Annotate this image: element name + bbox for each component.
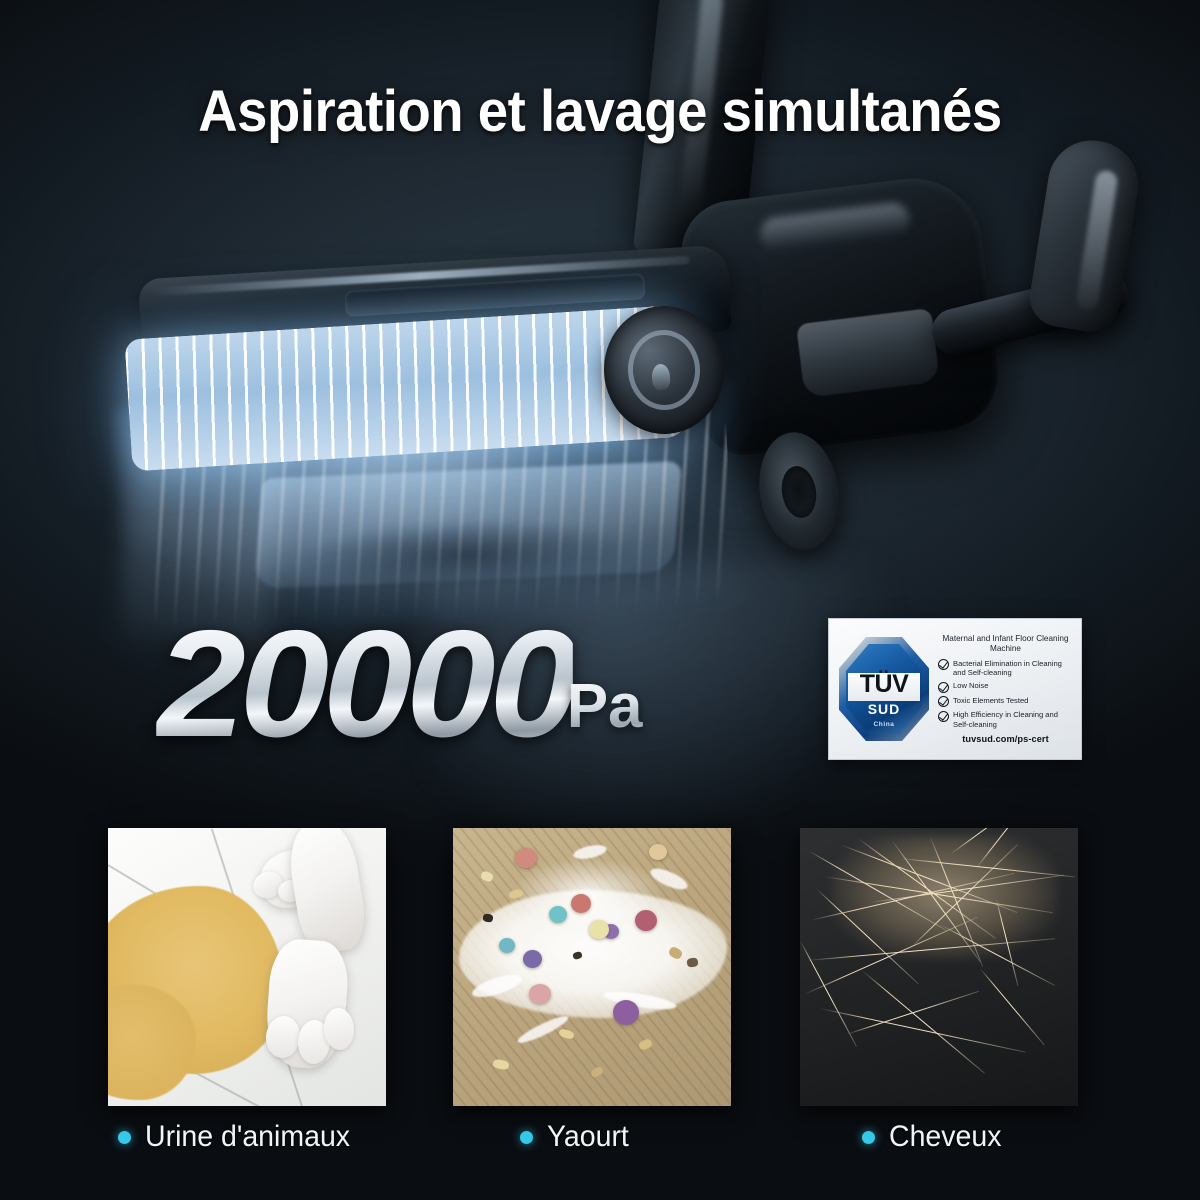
tuv-logo-region: China <box>848 721 920 728</box>
bullet-dot-icon <box>862 1131 875 1144</box>
product-marketing-image: Aspiration et lavage simultanés 20000 Pa… <box>0 0 1200 1200</box>
cereal-loop <box>529 984 551 1004</box>
mess-thumbnail-pet-urine <box>108 828 386 1106</box>
tuv-logo-wordmark: TÜV <box>848 671 920 697</box>
cereal-loop <box>649 844 667 860</box>
cereal-loop <box>499 938 515 953</box>
mess-caption-label: Urine d'animaux <box>145 1120 350 1154</box>
check-circle-icon <box>938 711 949 722</box>
mess-caption-hair: Cheveux <box>862 1120 1007 1154</box>
cereal-loop <box>571 894 591 913</box>
tuv-certification-details: Maternal and Infant Floor Cleaning Machi… <box>933 634 1075 744</box>
tuv-list-item-label: Low Noise <box>953 681 988 691</box>
suction-power-unit: Pa <box>567 671 643 742</box>
tuv-certification-url: tuvsud.com/ps-cert <box>938 734 1073 744</box>
tuv-list-item: High Efficiency in Cleaning and Self-cle… <box>938 710 1073 730</box>
cereal-loop <box>515 848 537 868</box>
tuv-list-item-label: Toxic Elements Tested <box>953 696 1028 706</box>
cereal-loop <box>589 920 609 939</box>
mess-caption-label: Yaourt <box>547 1120 629 1154</box>
bullet-dot-icon <box>118 1131 131 1144</box>
tuv-logo-sub: SUD <box>848 701 920 717</box>
tuv-list-item: Low Noise <box>938 681 1073 693</box>
food-crumb <box>482 913 493 922</box>
check-circle-icon <box>938 659 949 670</box>
tuv-sud-logo-icon: TÜV SUD China <box>835 633 933 745</box>
mess-caption-yogurt: Yaourt <box>520 1120 633 1154</box>
mess-thumbnail-yogurt <box>453 828 731 1106</box>
tuv-list-item: Toxic Elements Tested <box>938 696 1073 708</box>
cereal-loop <box>635 910 657 931</box>
page-title: Aspiration et lavage simultanés <box>36 78 1164 145</box>
cereal-loop <box>523 950 542 968</box>
suction-power-spec: 20000 Pa <box>168 612 643 758</box>
mess-caption-pet-urine: Urine d'animaux <box>118 1120 361 1154</box>
tuv-list-item-label: Bacterial Elimination in Cleaning and Se… <box>953 659 1073 679</box>
tuv-certification-heading: Maternal and Infant Floor Cleaning Machi… <box>938 634 1073 655</box>
cereal-loop <box>613 1000 639 1025</box>
tuv-list-item: Bacterial Elimination in Cleaning and Se… <box>938 659 1073 679</box>
check-circle-icon <box>938 682 949 693</box>
cereal-loop <box>549 906 567 923</box>
tuv-list-item-label: High Efficiency in Cleaning and Self-cle… <box>953 710 1073 730</box>
bullet-dot-icon <box>520 1131 533 1144</box>
mess-caption-label: Cheveux <box>889 1120 1001 1154</box>
check-circle-icon <box>938 696 949 707</box>
suction-power-value: 20000 <box>156 612 572 758</box>
mess-thumbnail-hair <box>800 828 1078 1106</box>
tuv-certification-badge: TÜV SUD China Maternal and Infant Floor … <box>828 618 1082 760</box>
